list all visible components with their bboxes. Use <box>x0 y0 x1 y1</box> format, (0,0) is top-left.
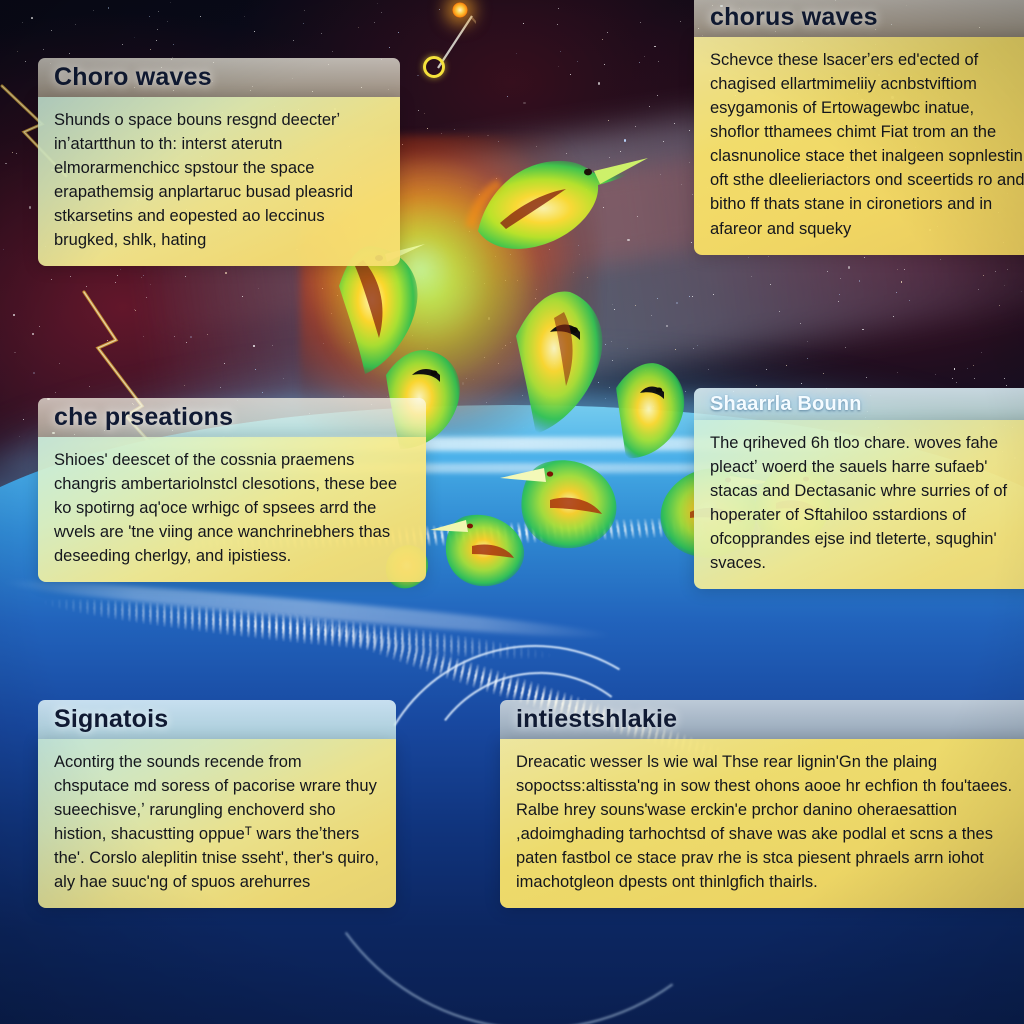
panel-top-right: chorus waves Schevce these lsacerʼers ed… <box>694 0 1024 255</box>
panel-middle-left-heading: che prseations <box>38 398 426 437</box>
panel-bottom-right-heading: intiestshlakie <box>500 700 1024 739</box>
panel-middle-left-body: Shioesʹ deescet of the cossnia praemens … <box>38 437 426 582</box>
panel-top-left-body: Shunds o space bouns resgnd deecterʼ inʼ… <box>38 97 400 266</box>
ring-marker-icon <box>423 56 445 78</box>
panel-middle-right: Shaarrla Bounn The qriheved 6h tloɔ char… <box>694 388 1024 589</box>
panel-middle-right-heading: Shaarrla Bounn <box>694 388 1024 420</box>
panel-middle-left: che prseations Shioesʹ deescet of the co… <box>38 398 426 582</box>
panel-bottom-left: Signatois Acontirg the sounds recende fr… <box>38 700 396 908</box>
panel-bottom-right: intiestshlakie Dreacatic wesser ls wie w… <box>500 700 1024 908</box>
bright-star-icon <box>452 2 468 18</box>
panel-top-left-heading: Choro waves <box>38 58 400 97</box>
panel-top-right-body: Schevce these lsacerʼers edʹected of cha… <box>694 37 1024 255</box>
panel-bottom-left-body: Acontirg the sounds recende from chsputa… <box>38 739 396 908</box>
panel-top-left: Choro waves Shunds o space bouns resgnd … <box>38 58 400 266</box>
panel-bottom-right-body: Dreacatic wesser ls wie wal Thse rear li… <box>500 739 1024 908</box>
infographic-canvas: Choro waves Shunds o space bouns resgnd … <box>0 0 1024 1024</box>
panel-middle-right-body: The qriheved 6h tloɔ chare. woves fahe p… <box>694 420 1024 589</box>
panel-top-right-heading: chorus waves <box>694 0 1024 37</box>
panel-bottom-left-heading: Signatois <box>38 700 396 739</box>
